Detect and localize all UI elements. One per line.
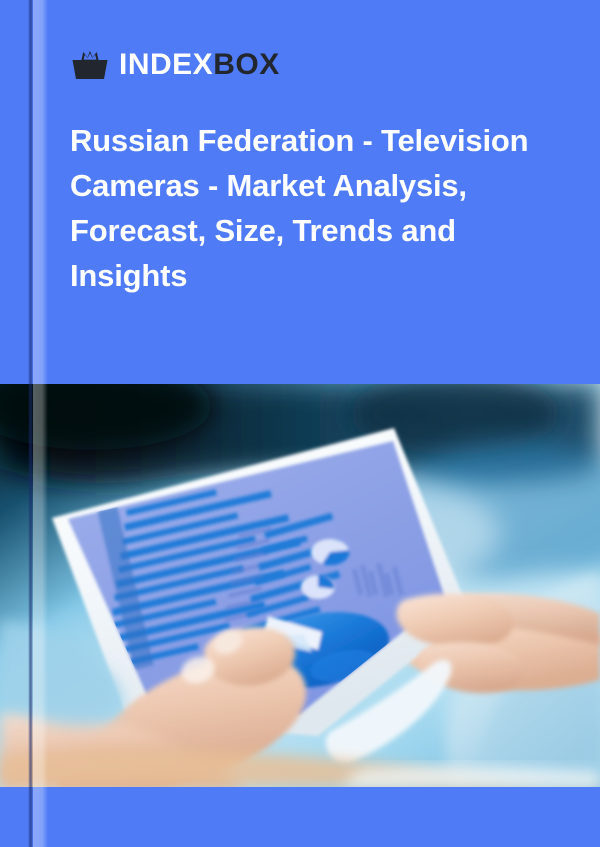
page-title: Russian Federation - Television Cameras … [70,118,550,298]
indexbox-logo[interactable]: INDEXBOX [70,46,280,84]
logo-word-index: INDEX [119,48,213,81]
logo-word-box: BOX [213,48,280,81]
cover-footer [0,787,600,847]
cover-photo [0,384,600,787]
indexbox-basket-crown-icon [70,50,110,80]
cover-photo-illustration [0,384,600,787]
cover-header: INDEXBOX Russian Federation - Television… [0,0,600,384]
report-cover-page: INDEXBOX Russian Federation - Television… [0,0,600,847]
logo-wordmark: INDEXBOX [119,50,280,80]
